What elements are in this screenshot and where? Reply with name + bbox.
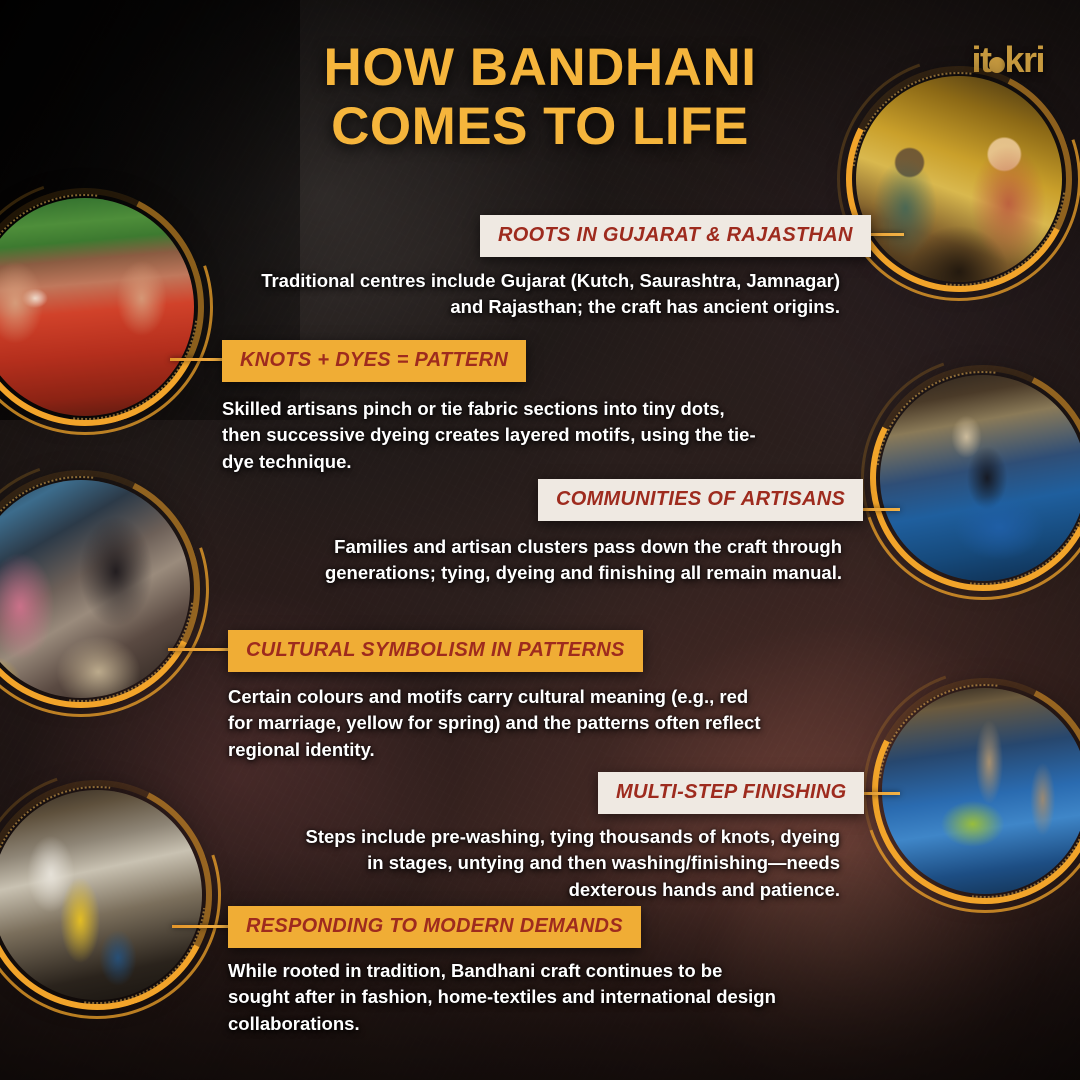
photo-image: [0, 790, 202, 1000]
photo-yellow-dyer: [0, 790, 202, 1000]
photo-disc: [0, 480, 190, 698]
photo-dyer-vat: [880, 375, 1080, 581]
section-body-modern: While rooted in tradition, Bandhani craf…: [228, 958, 788, 1037]
photo-image: [0, 198, 194, 416]
brand-logo-tail: kri: [1004, 39, 1044, 80]
photo-blue-vat: [882, 688, 1080, 894]
photo-image: [880, 375, 1080, 581]
photo-image: [882, 688, 1080, 894]
section-heading-roots: ROOTS IN GUJARAT & RAJASTHAN: [480, 215, 871, 257]
photo-disc: [0, 790, 202, 1000]
section-heading-symbolism: CULTURAL SYMBOLISM IN PATTERNS: [228, 630, 643, 672]
connector-modern: [172, 925, 230, 928]
photo-disc: [0, 198, 194, 416]
section-heading-knots: KNOTS + DYES = PATTERN: [222, 340, 526, 382]
page-title-line1: HOW BANDHANI: [324, 38, 757, 97]
section-body-finishing: Steps include pre-washing, tying thousan…: [300, 824, 840, 903]
connector-knots: [170, 358, 228, 361]
brand-logo-head: it: [971, 39, 990, 80]
section-body-symbolism: Certain colours and motifs carry cultura…: [228, 684, 774, 763]
photo-disc: [880, 375, 1080, 581]
connector-symbolism: [168, 648, 228, 651]
section-body-roots: Traditional centres include Gujarat (Kut…: [256, 268, 840, 321]
photo-red-hands: [0, 198, 194, 416]
photo-tying-women: [856, 76, 1062, 282]
brand-logo[interactable]: itkri: [971, 42, 1044, 78]
photo-image: [856, 76, 1062, 282]
photo-disc: [882, 688, 1080, 894]
section-heading-modern: RESPONDING TO MODERN DEMANDS: [228, 906, 641, 948]
infographic-poster: HOW BANDHANI COMES TO LIFE itkri: [0, 0, 1080, 1080]
section-body-knots: Skilled artisans pinch or tie fabric sec…: [222, 396, 762, 475]
section-heading-finishing: MULTI-STEP FINISHING: [598, 772, 864, 814]
section-heading-communities: COMMUNITIES OF ARTISANS: [538, 479, 863, 521]
photo-disc: [856, 76, 1062, 282]
photo-image: [0, 480, 190, 698]
photo-seated-women: [0, 480, 190, 698]
section-body-communities: Families and artisan clusters pass down …: [246, 534, 842, 587]
